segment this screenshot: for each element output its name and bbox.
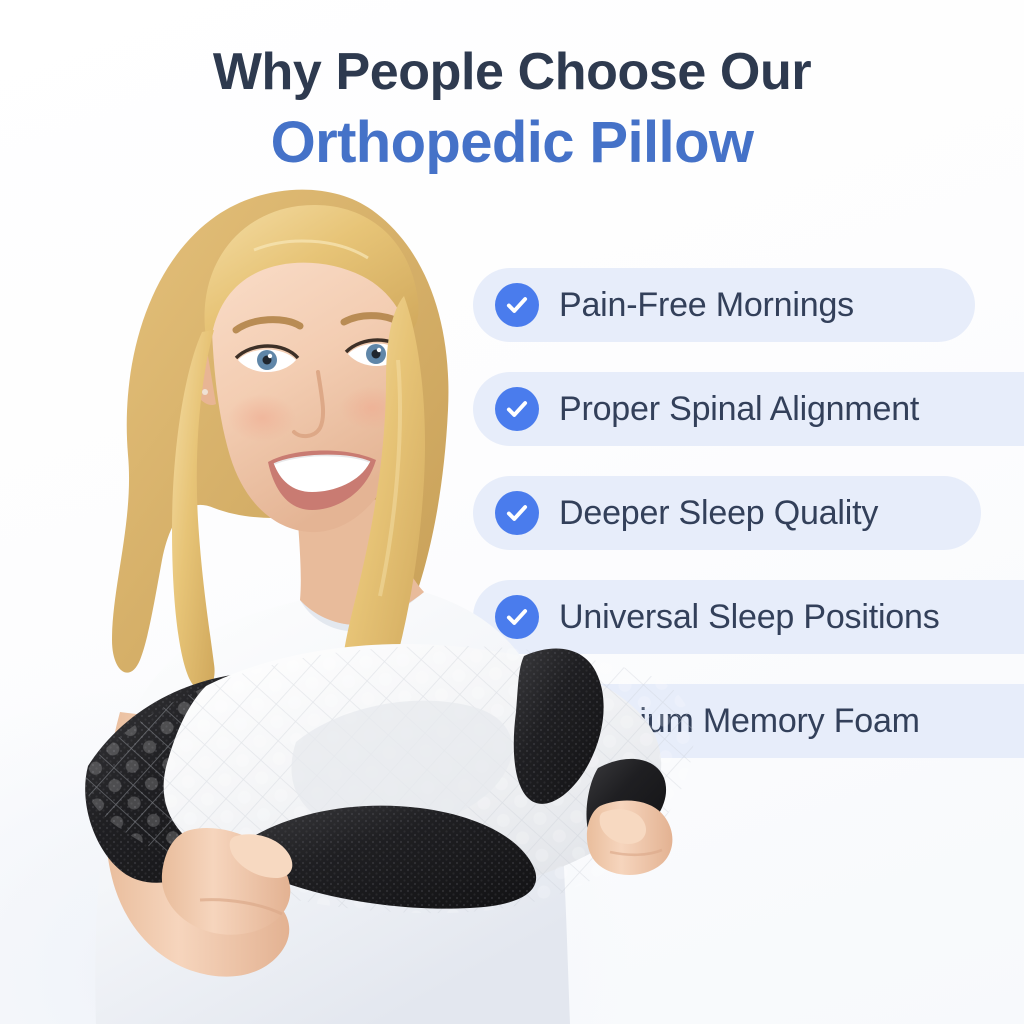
- hand-right: [587, 801, 673, 875]
- marketing-image-canvas: Why People Choose Our Orthopedic Pillow …: [0, 0, 1024, 1024]
- cheek-left: [228, 394, 296, 442]
- product-lifestyle-photo: [0, 0, 1024, 1024]
- earring: [202, 389, 208, 395]
